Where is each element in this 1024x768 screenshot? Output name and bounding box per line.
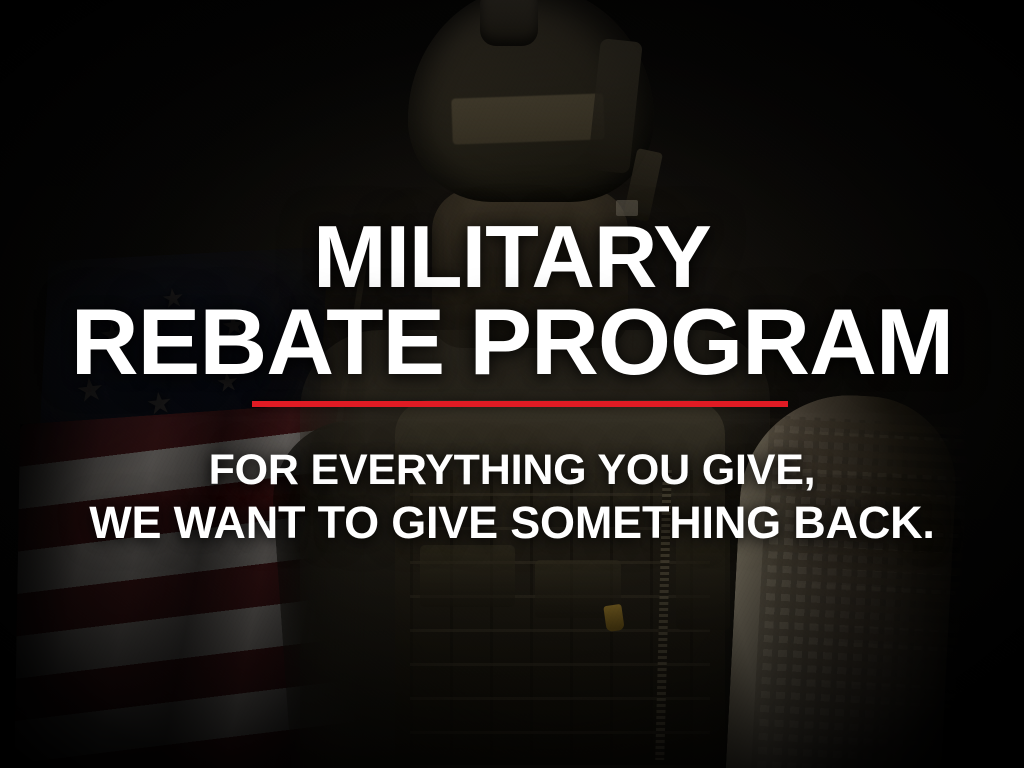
camo-pattern bbox=[751, 415, 970, 768]
soldier-figure bbox=[0, 0, 1024, 768]
vest-pouch bbox=[676, 520, 730, 630]
neck-gaiter-icon bbox=[432, 188, 628, 348]
ir-patch bbox=[616, 200, 638, 216]
vest-pouch bbox=[420, 545, 515, 607]
night-vision-mount-icon bbox=[480, 0, 538, 46]
military-rebate-poster: ★ ★ ★ ★ ★ ★ bbox=[0, 0, 1024, 768]
background-photo: ★ ★ ★ ★ ★ ★ bbox=[0, 0, 1024, 768]
helmet-velcro-panel bbox=[451, 93, 605, 144]
gear-tab bbox=[603, 604, 624, 632]
